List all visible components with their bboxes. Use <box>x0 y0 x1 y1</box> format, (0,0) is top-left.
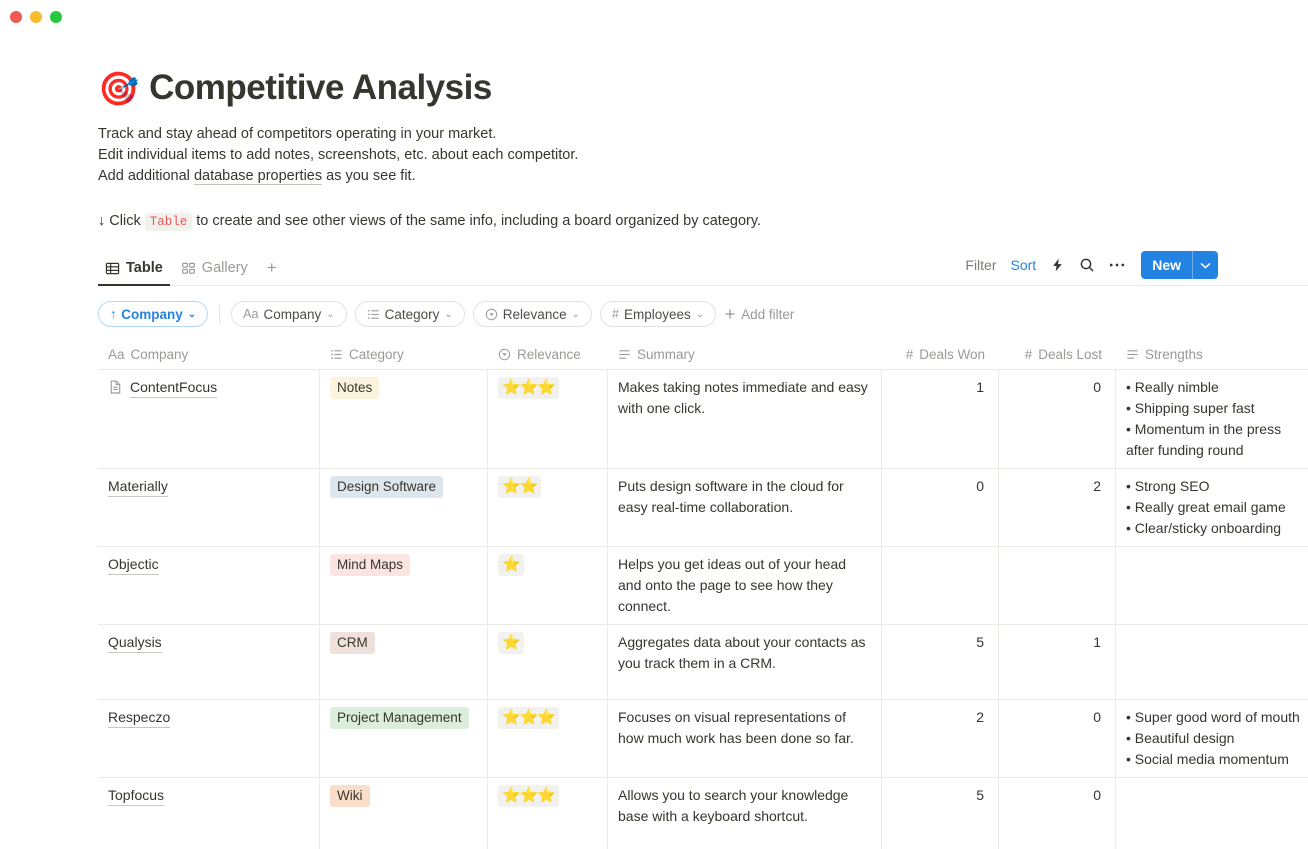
column-header-company-label: Company <box>131 347 189 362</box>
cell-summary[interactable]: Aggregates data about your contacts as y… <box>608 625 882 699</box>
strength-item: • Momentum in the press after funding ro… <box>1126 419 1303 461</box>
window-controls <box>10 11 62 23</box>
chevron-down-icon: ⌄ <box>326 309 334 320</box>
column-header-category[interactable]: Category <box>320 344 488 369</box>
relevance-stars: ⭐⭐⭐ <box>498 377 559 399</box>
company-name-link[interactable]: ContentFocus <box>130 378 217 398</box>
chevron-down-icon: ⌄ <box>696 309 704 320</box>
add-filter-label: Add filter <box>741 307 794 322</box>
table-row[interactable]: ObjecticMind Maps⭐Helps you get ideas ou… <box>98 547 1308 625</box>
cell-company[interactable]: Topfocus <box>98 778 320 849</box>
column-header-summary-label: Summary <box>637 347 695 362</box>
relevance-stars: ⭐⭐⭐ <box>498 785 559 807</box>
cell-deals-won[interactable]: 0 <box>882 469 999 546</box>
cell-deals-won[interactable]: 5 <box>882 625 999 699</box>
cell-summary[interactable]: Helps you get ideas out of your head and… <box>608 547 882 624</box>
search-icon[interactable] <box>1079 257 1095 273</box>
strength-item: • Social media momentum <box>1126 749 1303 770</box>
cell-relevance[interactable]: ⭐ <box>488 625 608 699</box>
window-titlebar <box>0 0 1308 32</box>
page-description: Track and stay ahead of competitors oper… <box>98 124 1308 187</box>
minimize-button[interactable] <box>30 11 42 23</box>
tab-table[interactable]: Table <box>98 256 170 285</box>
cell-category[interactable]: Mind Maps <box>320 547 488 624</box>
cell-company[interactable]: Objectic <box>98 547 320 624</box>
cell-strengths[interactable]: • Really nimble• Shipping super fast• Mo… <box>1116 370 1308 468</box>
column-header-company[interactable]: Aa Company <box>98 344 320 369</box>
column-header-summary[interactable]: Summary <box>608 344 882 369</box>
table-body: ContentFocusNotes⭐⭐⭐Makes taking notes i… <box>98 370 1308 849</box>
chevron-down-icon: ⌄ <box>188 309 196 320</box>
company-name-link[interactable]: Objectic <box>108 555 159 575</box>
view-tabs: Table Gallery + <box>98 256 285 285</box>
text-type-icon: Aa <box>243 307 258 321</box>
new-button-label: New <box>1141 251 1192 279</box>
cell-summary[interactable]: Puts design software in the cloud for ea… <box>608 469 882 546</box>
number-type-icon: # <box>906 347 914 362</box>
column-header-deals-lost-label: Deals Lost <box>1038 347 1102 362</box>
filter-pill-company[interactable]: Aa Company ⌄ <box>231 301 346 327</box>
column-header-strengths-label: Strengths <box>1145 347 1203 362</box>
cell-category[interactable]: Wiki <box>320 778 488 849</box>
category-tag: Project Management <box>330 707 469 729</box>
cell-company[interactable]: Qualysis <box>98 625 320 699</box>
table-row[interactable]: TopfocusWiki⭐⭐⭐Allows you to search your… <box>98 778 1308 849</box>
page-icon[interactable] <box>108 379 123 395</box>
number-type-icon: # <box>612 307 619 321</box>
category-tag: Wiki <box>330 785 370 807</box>
company-name-link[interactable]: Topfocus <box>108 786 164 806</box>
filter-pill-category-label: Category <box>385 307 440 322</box>
table-icon <box>105 261 120 276</box>
text-type-icon: Aa <box>108 347 125 362</box>
tab-table-label: Table <box>126 260 163 276</box>
category-tag: CRM <box>330 632 375 654</box>
cell-category[interactable]: CRM <box>320 625 488 699</box>
sort-pill-label: Company <box>121 307 183 322</box>
table-row[interactable]: RespeczoProject Management⭐⭐⭐Focuses on … <box>98 700 1308 778</box>
strength-item: • Beautiful design <box>1126 728 1303 749</box>
cell-deals-lost[interactable]: 2 <box>999 469 1116 546</box>
category-tag: Design Software <box>330 476 443 498</box>
database-table: Aa Company Category <box>98 344 1308 849</box>
cell-relevance[interactable]: ⭐⭐ <box>488 469 608 546</box>
hint-suffix: to create and see other views of the sam… <box>192 213 761 229</box>
tab-gallery[interactable]: Gallery <box>174 256 255 285</box>
filter-pill-employees[interactable]: # Employees ⌄ <box>600 301 716 327</box>
filter-pill-category[interactable]: Category ⌄ <box>355 301 465 327</box>
cell-relevance[interactable]: ⭐⭐⭐ <box>488 778 608 849</box>
plus-icon <box>724 308 736 320</box>
sort-asc-icon: ↑ <box>110 307 116 321</box>
cell-category[interactable]: Project Management <box>320 700 488 777</box>
add-view-button[interactable]: + <box>259 257 285 284</box>
filter-pill-employees-label: Employees <box>624 307 691 322</box>
text-icon <box>1126 348 1139 361</box>
filter-button[interactable]: Filter <box>965 257 996 273</box>
new-button[interactable]: New <box>1141 251 1218 279</box>
cell-summary[interactable]: Makes taking notes immediate and easy wi… <box>608 370 882 468</box>
cell-company[interactable]: Materially <box>98 469 320 546</box>
chevron-down-icon: ⌄ <box>572 309 580 320</box>
description-line-3-suffix: as you see fit. <box>322 168 416 184</box>
column-header-relevance-label: Relevance <box>517 347 581 362</box>
cell-deals-won[interactable]: 5 <box>882 778 999 849</box>
table-row[interactable]: ContentFocusNotes⭐⭐⭐Makes taking notes i… <box>98 370 1308 469</box>
cell-deals-lost[interactable]: 1 <box>999 625 1116 699</box>
strength-item: • Shipping super fast <box>1126 398 1303 419</box>
cell-strengths[interactable] <box>1116 778 1308 849</box>
company-name-link[interactable]: Qualysis <box>108 633 162 653</box>
cell-deals-won[interactable]: 1 <box>882 370 999 468</box>
filter-pill-company-label: Company <box>263 307 321 322</box>
filter-pill-relevance-label: Relevance <box>503 307 567 322</box>
list-icon <box>330 348 343 361</box>
column-header-deals-won[interactable]: # Deals Won <box>882 344 999 369</box>
column-header-category-label: Category <box>349 347 404 362</box>
database-properties-link[interactable]: database properties <box>194 168 322 185</box>
hint-prefix: ↓ Click <box>98 213 145 229</box>
cell-category[interactable]: Design Software <box>320 469 488 546</box>
filter-bar: ↑ Company ⌄ Aa Company ⌄ Category ⌄ <box>98 300 1308 328</box>
table-row[interactable]: QualysisCRM⭐Aggregates data about your c… <box>98 625 1308 700</box>
cell-relevance[interactable]: ⭐⭐⭐ <box>488 700 608 777</box>
add-filter-button[interactable]: Add filter <box>724 307 794 322</box>
cell-category[interactable]: Notes <box>320 370 488 468</box>
cell-summary[interactable]: Allows you to search your knowledge base… <box>608 778 882 849</box>
strength-item: • Really nimble <box>1126 377 1303 398</box>
description-line-2: Edit individual items to add notes, scre… <box>98 145 1308 166</box>
cell-strengths[interactable]: • Super good word of mouth• Beautiful de… <box>1116 700 1308 777</box>
company-name-link[interactable]: Respeczo <box>108 708 170 728</box>
cell-strengths[interactable]: • Strong SEO• Really great email game• C… <box>1116 469 1308 546</box>
category-tag: Notes <box>330 377 379 399</box>
strength-item: • Super good word of mouth <box>1126 707 1303 728</box>
sort-pill-company[interactable]: ↑ Company ⌄ <box>98 301 208 327</box>
select-icon <box>485 308 498 321</box>
ellipsis-icon[interactable] <box>1109 262 1125 268</box>
cell-deals-lost[interactable]: 0 <box>999 700 1116 777</box>
category-tag: Mind Maps <box>330 554 410 576</box>
page-title: Competitive Analysis <box>149 68 492 108</box>
chevron-down-icon[interactable] <box>1193 251 1218 279</box>
page-header: 🎯 Competitive Analysis <box>98 68 1308 108</box>
cell-deals-lost[interactable]: 0 <box>999 370 1116 468</box>
column-header-strengths[interactable]: Strengths <box>1116 344 1308 369</box>
sort-button[interactable]: Sort <box>1011 257 1037 273</box>
page-content: 🎯 Competitive Analysis Track and stay ah… <box>0 68 1308 849</box>
relevance-stars: ⭐ <box>498 554 524 576</box>
cell-strengths[interactable] <box>1116 625 1308 699</box>
gallery-icon <box>181 261 196 276</box>
description-line-1: Track and stay ahead of competitors oper… <box>98 124 1308 145</box>
cell-deals-won[interactable]: 2 <box>882 700 999 777</box>
description-line-3: Add additional database properties as yo… <box>98 166 1308 187</box>
relevance-stars: ⭐⭐ <box>498 476 541 498</box>
cell-deals-lost[interactable] <box>999 547 1116 624</box>
relevance-stars: ⭐ <box>498 632 524 654</box>
relevance-stars: ⭐⭐⭐ <box>498 707 559 729</box>
hint-code-chip: Table <box>145 213 193 231</box>
page-hint: ↓ Click Table to create and see other vi… <box>98 213 1308 229</box>
close-button[interactable] <box>10 11 22 23</box>
column-header-relevance[interactable]: Relevance <box>488 344 608 369</box>
select-icon <box>498 348 511 361</box>
chevron-down-icon: ⌄ <box>444 309 452 320</box>
cell-relevance[interactable]: ⭐⭐⭐ <box>488 370 608 468</box>
column-header-deals-lost[interactable]: # Deals Lost <box>999 344 1116 369</box>
filter-pill-relevance[interactable]: Relevance ⌄ <box>473 301 592 327</box>
table-header-row: Aa Company Category <box>98 344 1308 370</box>
lightning-icon[interactable] <box>1050 257 1065 273</box>
cell-company[interactable]: Respeczo <box>98 700 320 777</box>
strength-item: • Strong SEO <box>1126 476 1303 497</box>
text-icon <box>618 348 631 361</box>
view-toolbar: Filter Sort New <box>965 251 1218 285</box>
filter-divider <box>219 305 220 323</box>
description-line-3-prefix: Add additional <box>98 168 194 184</box>
cell-summary[interactable]: Focuses on visual representations of how… <box>608 700 882 777</box>
table-row[interactable]: MateriallyDesign Software⭐⭐Puts design s… <box>98 469 1308 547</box>
tab-gallery-label: Gallery <box>202 260 248 276</box>
cell-deals-won[interactable] <box>882 547 999 624</box>
cell-deals-lost[interactable]: 0 <box>999 778 1116 849</box>
maximize-button[interactable] <box>50 11 62 23</box>
view-bar: Table Gallery + Filter Sort <box>98 251 1308 286</box>
strength-item: • Clear/sticky onboarding <box>1126 518 1303 539</box>
cell-company[interactable]: ContentFocus <box>98 370 320 468</box>
cell-relevance[interactable]: ⭐ <box>488 547 608 624</box>
company-name-link[interactable]: Materially <box>108 477 168 497</box>
list-icon <box>367 308 380 321</box>
target-icon: 🎯 <box>98 72 139 105</box>
number-type-icon: # <box>1025 347 1033 362</box>
strength-item: • Really great email game <box>1126 497 1303 518</box>
column-header-deals-won-label: Deals Won <box>919 347 985 362</box>
cell-strengths[interactable] <box>1116 547 1308 624</box>
